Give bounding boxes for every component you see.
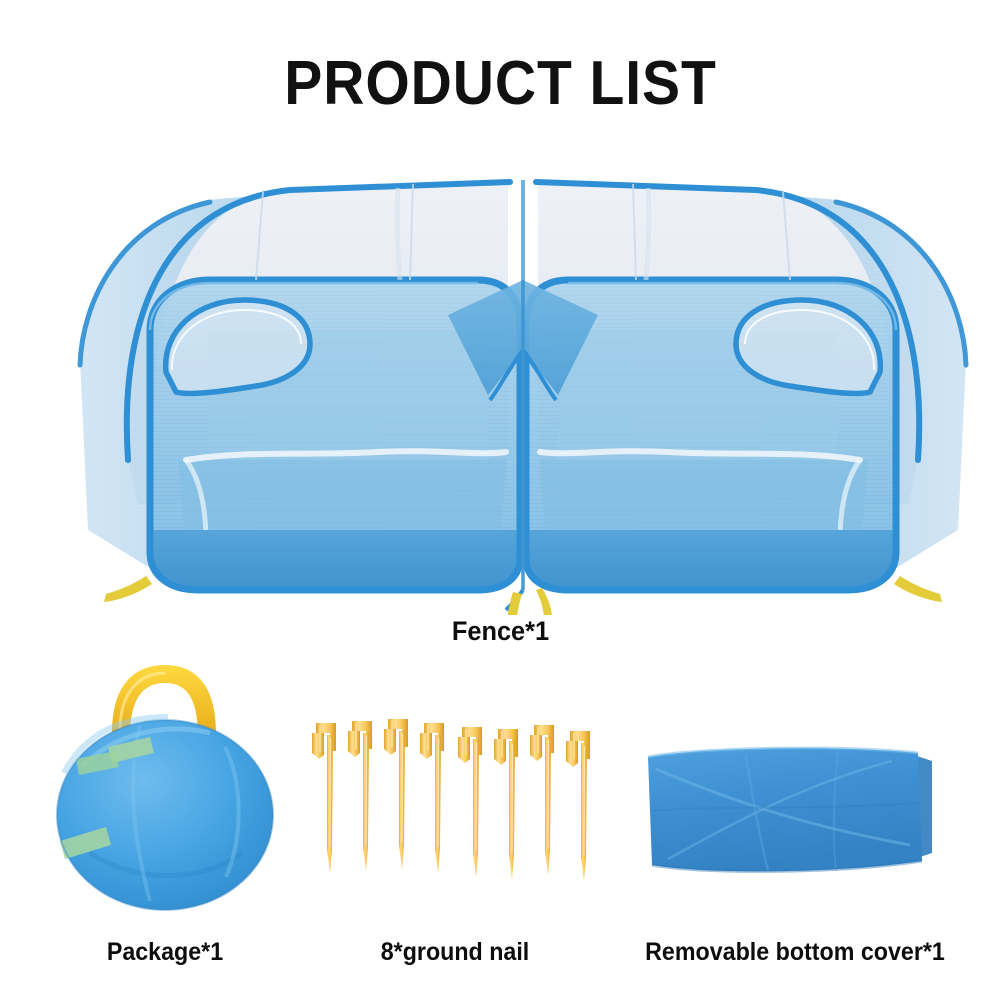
ground-stake-set-icon (310, 717, 602, 889)
ground-nails-art (310, 717, 602, 889)
fence-tie-centre-left (507, 592, 522, 615)
ground-stake (384, 719, 408, 869)
ground-stake (348, 721, 372, 871)
accessory-package: Package*1 (20, 655, 310, 975)
accessory-bottom-cover: Removable bottom cover*1 (600, 655, 990, 975)
ground-stake (312, 723, 336, 873)
ground-stake (494, 729, 518, 879)
fence-illustration (58, 160, 988, 615)
folded-fabric-sheet-icon (642, 741, 938, 881)
fence-tie-centre-right (536, 588, 552, 615)
accessory-ground-nails: 8*ground nail (300, 655, 610, 975)
page-title: PRODUCT LIST (40, 48, 961, 120)
bottom-cover-art (642, 741, 938, 881)
ground-nails-caption: 8*ground nail (311, 938, 599, 967)
accessories-row: Package*1 (0, 655, 1001, 975)
fence-image (58, 160, 988, 615)
fence-tie-left (104, 576, 152, 602)
fence-caption: Fence*1 (30, 616, 971, 647)
package-art (20, 655, 310, 915)
ground-stake (566, 731, 590, 881)
ground-stake (458, 727, 482, 877)
fence-chamber-left (80, 180, 520, 602)
ground-stake (530, 725, 554, 875)
fence-chamber-right (526, 180, 966, 602)
package-caption: Package*1 (30, 938, 300, 967)
bottom-cover-caption: Removable bottom cover*1 (614, 938, 977, 967)
product-list-page: PRODUCT LIST (0, 0, 1001, 1001)
ground-stake (420, 723, 444, 873)
round-carry-bag-icon (20, 655, 310, 915)
